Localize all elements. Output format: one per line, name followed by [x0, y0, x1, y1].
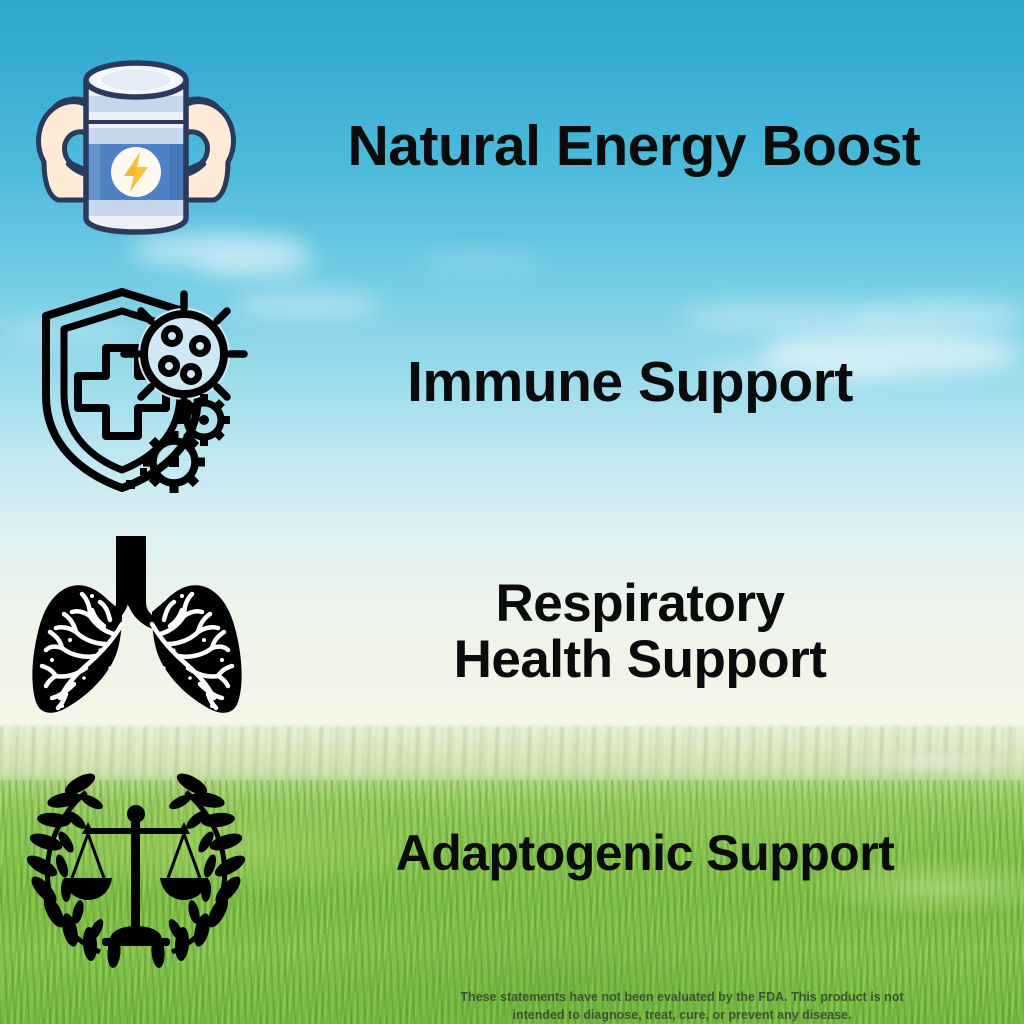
shield-medical-cross-virus-icon	[34, 284, 250, 496]
benefit-label-adaptogenic: Adaptogenic Support	[300, 827, 990, 880]
benefit-icon-respiratory	[22, 528, 252, 742]
fda-disclaimer-line2: intended to diagnose, treat, cure, or pr…	[392, 1006, 972, 1024]
benefit-label-energy: Natural Energy Boost	[262, 116, 1006, 176]
benefit-label-respiratory: Respiratory Health Support	[340, 576, 940, 688]
benefit-icon-energy	[24, 40, 248, 240]
benefit-label-respiratory-line2: Health Support	[454, 630, 827, 689]
benefit-icon-adaptogenic	[26, 772, 246, 962]
fda-disclaimer-line1: These statements have not been evaluated…	[392, 988, 972, 1006]
balance-scale-laurel-wreath-icon	[26, 772, 246, 962]
benefits-list: Natural Energy Boost	[0, 0, 1024, 1024]
benefit-icon-immune	[34, 284, 250, 496]
fda-disclaimer: These statements have not been evaluated…	[392, 988, 972, 1024]
benefit-label-immune: Immune Support	[300, 352, 960, 412]
lungs-icon	[22, 528, 252, 742]
benefit-label-respiratory-line1: Respiratory	[495, 574, 784, 633]
supplement-jar-flexing-arms-icon	[24, 40, 248, 240]
